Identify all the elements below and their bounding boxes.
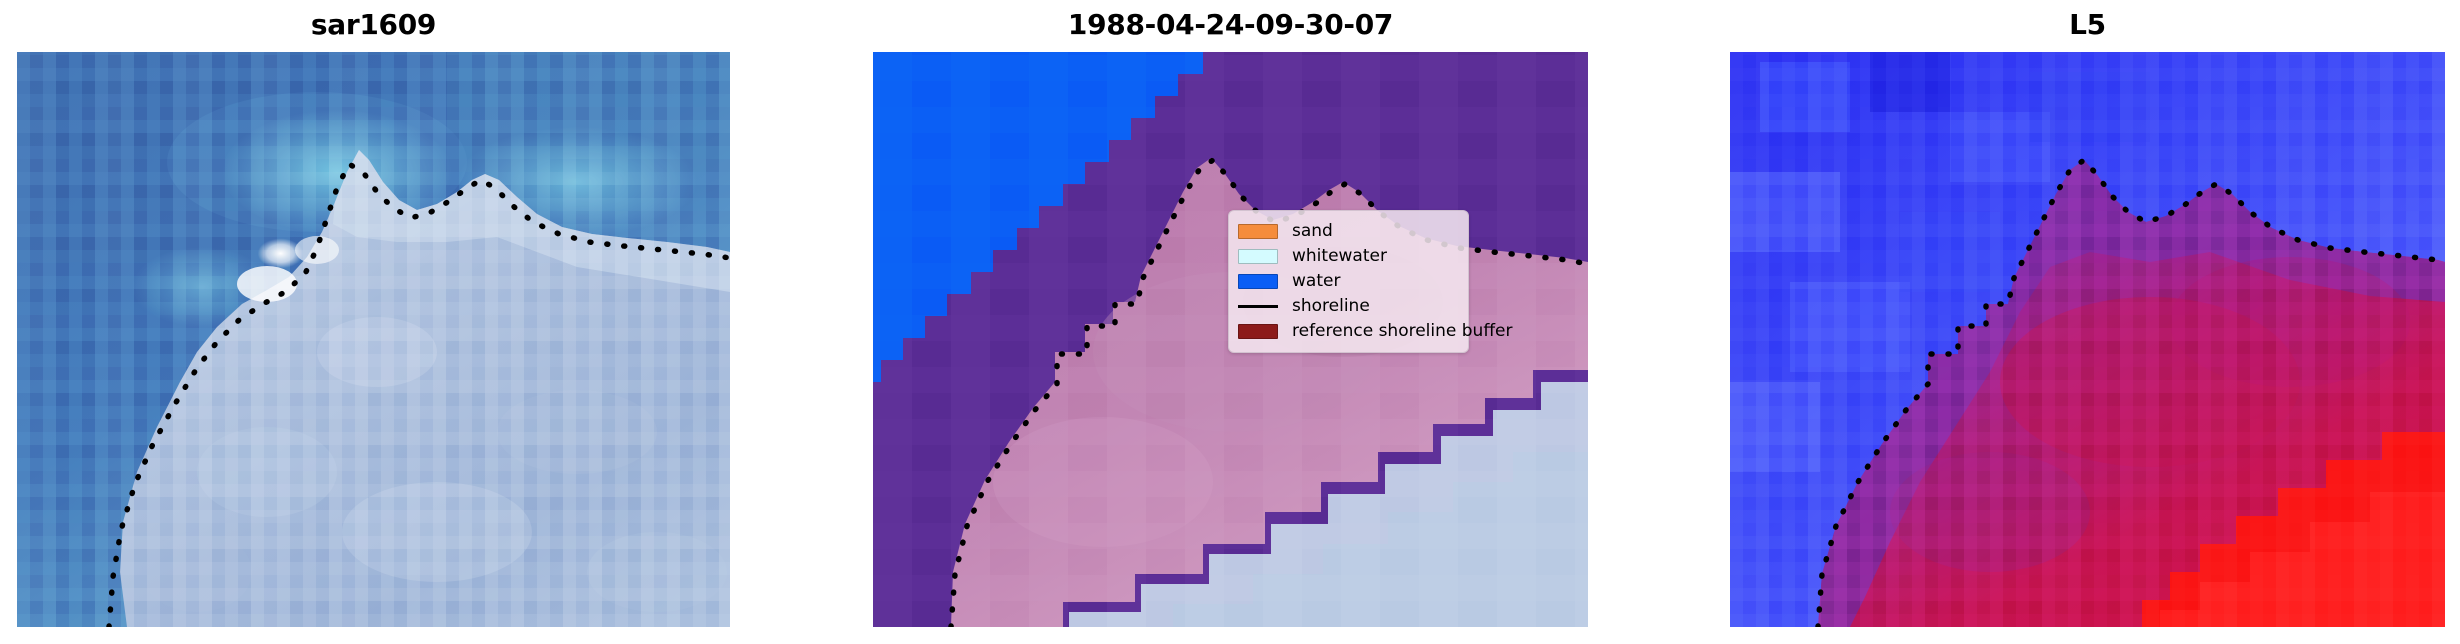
- panel-title-date: 1988-04-24-09-30-07: [873, 8, 1588, 42]
- legend-box[interactable]: sand whitewater water shoreline referenc…: [1228, 210, 1469, 353]
- legend-item-shoreline[interactable]: shoreline: [1238, 294, 1458, 319]
- pale-cyan-swatch-icon: [1238, 249, 1278, 264]
- blue-swatch-icon: [1238, 274, 1278, 289]
- panel-title-l5: L5: [1730, 8, 2445, 42]
- satellite-rgb-raster: [17, 52, 730, 627]
- legend-item-reference-buffer[interactable]: reference shoreline buffer: [1238, 319, 1458, 344]
- image-panel-sar1609[interactable]: [17, 52, 730, 627]
- legend-item-sand[interactable]: sand: [1238, 219, 1458, 244]
- legend-label: water: [1292, 273, 1340, 290]
- black-line-icon: [1238, 299, 1278, 314]
- figure-canvas: sar1609 1988-04-24-09-30-07 L5: [0, 0, 2460, 644]
- dark-red-swatch-icon: [1238, 324, 1278, 339]
- legend-item-water[interactable]: water: [1238, 269, 1458, 294]
- panel-title-sar1609: sar1609: [17, 8, 730, 42]
- legend-label: reference shoreline buffer: [1292, 323, 1513, 340]
- legend-label: whitewater: [1292, 248, 1387, 265]
- image-panel-classification[interactable]: sand whitewater water shoreline referenc…: [873, 52, 1588, 627]
- orange-swatch-icon: [1238, 224, 1278, 239]
- false-color-raster: [1730, 52, 2445, 627]
- legend-label: shoreline: [1292, 298, 1370, 315]
- legend-label: sand: [1292, 223, 1333, 240]
- legend-item-whitewater[interactable]: whitewater: [1238, 244, 1458, 269]
- image-panel-l5[interactable]: [1730, 52, 2445, 627]
